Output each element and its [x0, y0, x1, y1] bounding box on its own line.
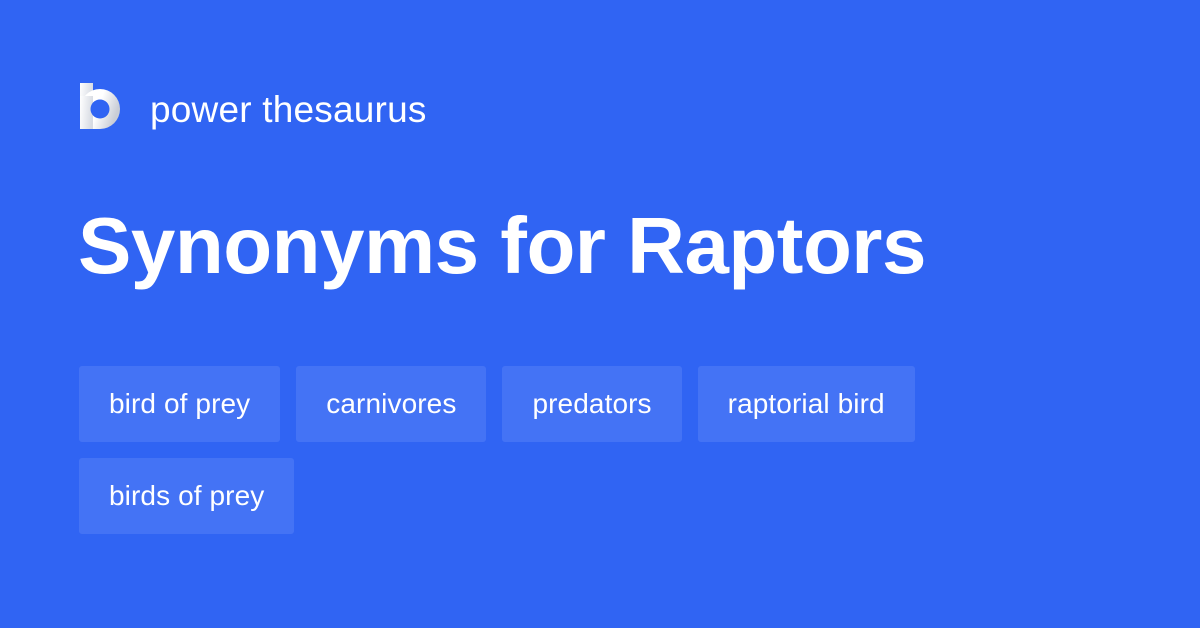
page-title: Synonyms for Raptors — [78, 198, 926, 294]
synonym-chip[interactable]: predators — [502, 366, 681, 442]
synonym-chip[interactable]: birds of prey — [79, 458, 294, 534]
synonym-list: bird of prey carnivores predators raptor… — [79, 366, 1089, 534]
brand-name: power thesaurus — [150, 91, 427, 128]
synonym-chip[interactable]: raptorial bird — [698, 366, 915, 442]
synonyms-card: power thesaurus Synonyms for Raptors bir… — [0, 0, 1200, 628]
synonym-chip[interactable]: carnivores — [296, 366, 486, 442]
brand-logo[interactable]: power thesaurus — [80, 83, 427, 135]
power-thesaurus-b-logo-icon — [80, 83, 126, 135]
synonym-chip[interactable]: bird of prey — [79, 366, 280, 442]
